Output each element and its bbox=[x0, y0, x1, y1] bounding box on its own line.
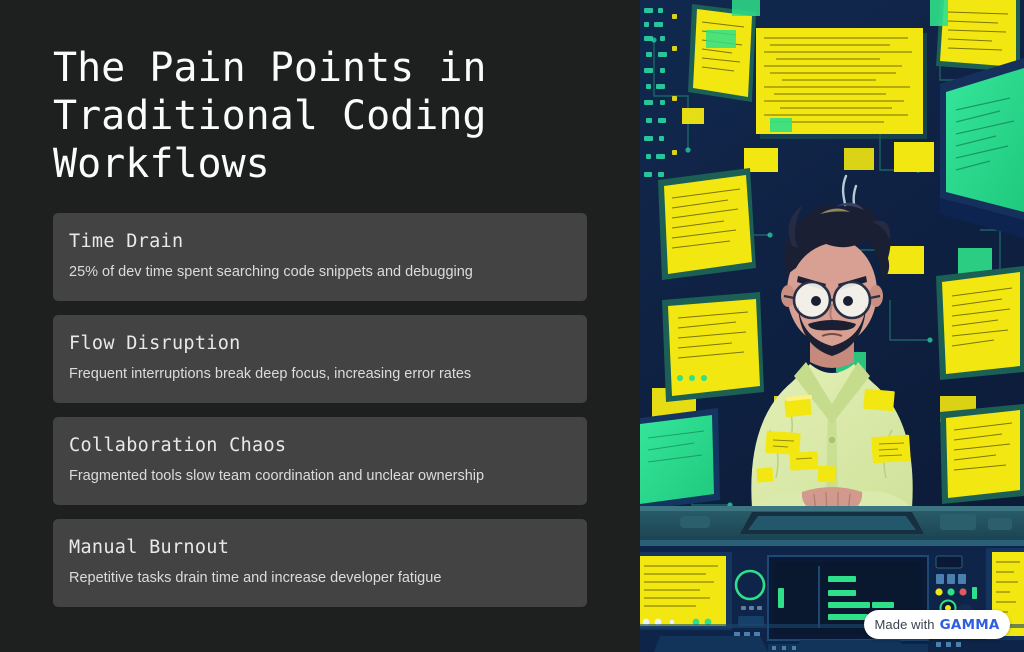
pain-point-card[interactable]: Flow Disruption Frequent interruptions b… bbox=[53, 315, 587, 403]
badge-prefix-label: Made with bbox=[874, 617, 934, 632]
code-sheet-mid-left bbox=[658, 168, 756, 280]
hero-illustration bbox=[640, 0, 1024, 652]
pain-point-card-list: Time Drain 25% of dev time spent searchi… bbox=[53, 213, 588, 607]
pain-point-card[interactable]: Collaboration Chaos Fragmented tools slo… bbox=[53, 417, 587, 505]
pain-point-card[interactable]: Manual Burnout Repetitive tasks drain ti… bbox=[53, 519, 587, 607]
illustration-svg bbox=[640, 0, 1024, 652]
desk-surface bbox=[640, 506, 1024, 540]
gamma-brand-label: GAMMA bbox=[940, 617, 1000, 633]
card-description: Repetitive tasks drain time and increase… bbox=[69, 568, 571, 588]
code-sheet-upper-right bbox=[936, 0, 1020, 72]
green-monitor-right bbox=[940, 58, 1024, 238]
code-sheet-upper-left bbox=[688, 4, 756, 102]
green-screen-lower-left bbox=[640, 408, 720, 510]
keyboard bbox=[740, 512, 924, 534]
card-description: 25% of dev time spent searching code sni… bbox=[69, 262, 571, 282]
card-description: Frequent interruptions break deep focus,… bbox=[69, 364, 571, 384]
made-with-gamma-badge[interactable]: Made with GAMMA bbox=[864, 610, 1010, 639]
card-title: Collaboration Chaos bbox=[69, 434, 571, 458]
card-description: Fragmented tools slow team coordination … bbox=[69, 466, 571, 486]
code-sheet-lower-left bbox=[662, 292, 764, 402]
content-panel: The Pain Points in Traditional Coding Wo… bbox=[0, 0, 640, 652]
slide-root: The Pain Points in Traditional Coding Wo… bbox=[0, 0, 1024, 652]
card-title: Flow Disruption bbox=[69, 332, 571, 356]
pain-point-card[interactable]: Time Drain 25% of dev time spent searchi… bbox=[53, 213, 587, 301]
card-title: Time Drain bbox=[69, 230, 571, 254]
card-title: Manual Burnout bbox=[69, 536, 571, 560]
page-title: The Pain Points in Traditional Coding Wo… bbox=[53, 42, 588, 188]
